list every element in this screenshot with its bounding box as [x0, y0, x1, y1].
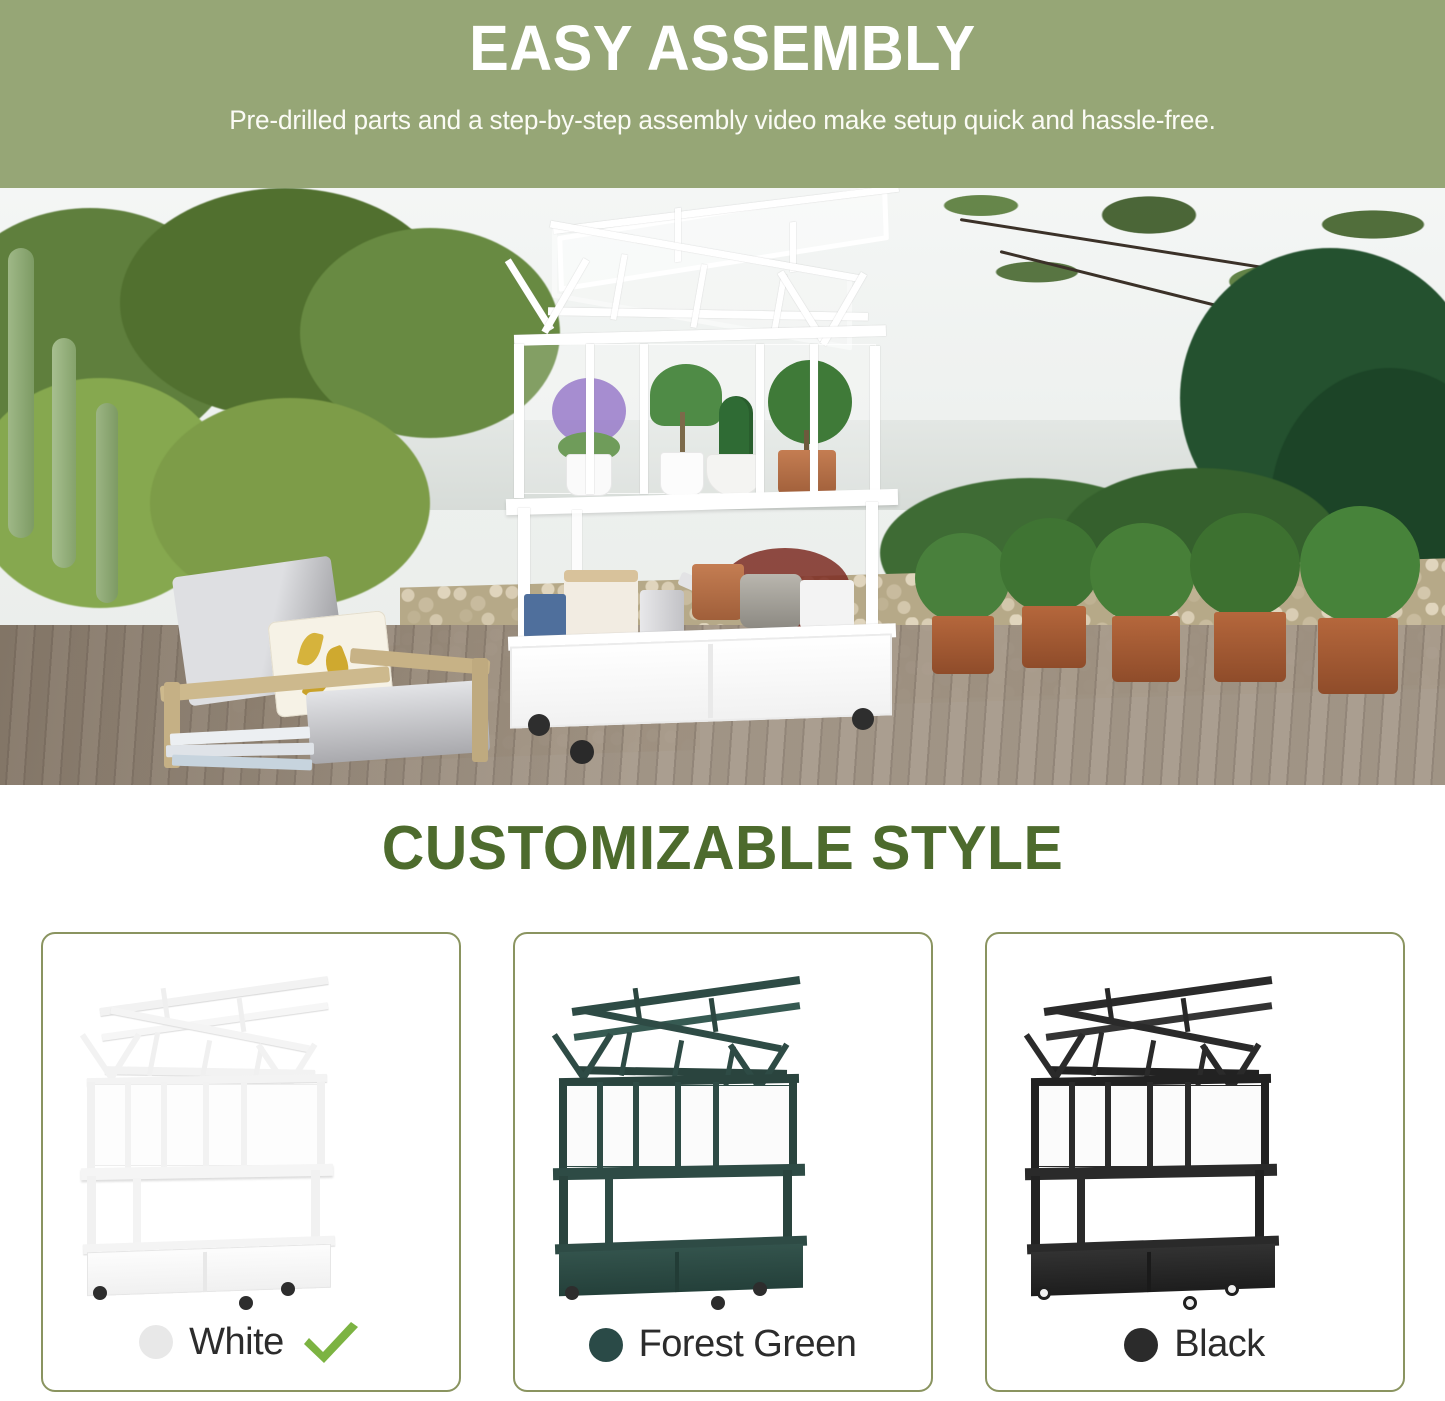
color-name-black: Black [1174, 1323, 1264, 1366]
lounge-chair [150, 558, 500, 768]
planter-box-divider [708, 644, 713, 718]
cart-leg [133, 1178, 141, 1250]
cabinet-door-stile [756, 344, 764, 494]
caster-wheel [711, 1296, 725, 1310]
potted-plant [915, 533, 1010, 623]
color-option-label-row-forest-green: Forest Green [515, 1323, 931, 1366]
caster-wheel [528, 714, 550, 736]
color-option-cards: White [0, 932, 1445, 1392]
palm-plant [650, 364, 722, 426]
color-swatch-forest-green [589, 1328, 623, 1362]
white-plant-pot [660, 452, 704, 496]
pillow-leaf-motif [297, 630, 325, 668]
cabinet-mullion [810, 344, 818, 494]
potted-plant [1090, 523, 1195, 623]
chair-leg [472, 658, 488, 762]
bucket-lid [564, 570, 638, 582]
cabinet-corner-post [1031, 1082, 1039, 1172]
potted-plant [1000, 518, 1100, 613]
banner-subtitle: Pre-drilled parts and a step-by-step ass… [229, 105, 1216, 136]
copper-planter-pot [1112, 616, 1180, 682]
caster-wheel [239, 1296, 253, 1310]
cabinet-corner-post [87, 1082, 95, 1172]
product-figure-black [987, 940, 1403, 1300]
cabinet-corner-post [789, 1082, 797, 1172]
product-figure-forest-green [515, 940, 931, 1300]
cabinet-door-stile [1147, 1082, 1153, 1170]
color-name-forest-green: Forest Green [639, 1323, 857, 1366]
caster-wheel [281, 1282, 295, 1296]
planter-box-divider [203, 1252, 207, 1292]
cabinet-door-stile [203, 1082, 209, 1170]
storage-bucket [564, 574, 638, 640]
nested-terracotta-pots [692, 564, 744, 620]
caster-wheel [753, 1282, 767, 1296]
planter-box-divider [675, 1252, 679, 1292]
cabinet-mullion [597, 1082, 603, 1170]
planter-box-divider [1147, 1252, 1151, 1292]
caster-wheel [93, 1286, 107, 1300]
gable-brace [106, 1033, 141, 1084]
banner-title: EASY ASSEMBLY [469, 14, 976, 83]
cactus [8, 248, 34, 538]
caster-wheel [570, 740, 594, 764]
cabinet-corner-post [514, 344, 524, 498]
hero-lifestyle-photo [0, 188, 1445, 785]
caster-wheel [852, 708, 874, 730]
customizable-style-section: CUSTOMIZABLE STYLE [0, 785, 1445, 1401]
caster-wheel [1183, 1296, 1197, 1310]
caster-wheel [1225, 1282, 1239, 1296]
cart-leg [1077, 1178, 1085, 1250]
product-figure-white [43, 940, 459, 1300]
color-option-card-white[interactable]: White [41, 932, 461, 1392]
color-swatch-black [1124, 1328, 1158, 1362]
cabinet-corner-post [559, 1082, 567, 1172]
color-swatch-white [139, 1325, 173, 1359]
copper-planter-pot [1022, 606, 1086, 668]
color-option-label-row-black: Black [987, 1323, 1403, 1366]
cabinet-corner-post [1261, 1082, 1269, 1172]
selected-check-icon [300, 1318, 362, 1366]
color-name-white: White [189, 1321, 284, 1364]
cabinet-door-stile [633, 1082, 639, 1170]
gable-brace [578, 1033, 613, 1084]
cabinet-mullion [125, 1082, 131, 1170]
color-option-card-forest-green[interactable]: Forest Green [513, 932, 933, 1392]
gable-brace [1050, 1033, 1085, 1084]
easy-assembly-banner: EASY ASSEMBLY Pre-drilled parts and a st… [0, 0, 1445, 188]
color-option-card-black[interactable]: Black [985, 932, 1405, 1392]
copper-planter-pot [1214, 612, 1286, 682]
middle-shelf [80, 1164, 332, 1180]
copper-planter-pot [932, 616, 994, 674]
cart-leg [605, 1178, 613, 1250]
section-title: CUSTOMIZABLE STYLE [36, 813, 1409, 884]
stone-planter [740, 574, 802, 628]
cactus [96, 403, 118, 603]
chair-seat-cushion [306, 680, 491, 764]
planter-box-front [510, 633, 892, 728]
blue-storage-item [524, 594, 566, 638]
cabinet-mullion [1069, 1082, 1075, 1170]
greenhouse-cart [500, 202, 920, 768]
cabinet-door-stile [640, 344, 648, 494]
terracotta-pot [778, 450, 836, 496]
color-option-label-row-white: White [43, 1318, 459, 1366]
cabinet-door-stile [1105, 1082, 1111, 1170]
caster-wheel [1037, 1286, 1051, 1300]
cabinet-mullion [241, 1082, 247, 1170]
cabinet-corner-post [317, 1082, 325, 1172]
cabinet-mullion [1185, 1082, 1191, 1170]
cabinet-door-stile [675, 1082, 681, 1170]
potted-plant [1190, 513, 1300, 618]
cabinet-mullion [713, 1082, 719, 1170]
caster-wheel [565, 1286, 579, 1300]
copper-planter-pot [1318, 618, 1398, 694]
potted-plant [1300, 506, 1420, 624]
cabinet-corner-post [870, 346, 880, 500]
cactus-plant [719, 396, 753, 462]
cabinet-door-stile [161, 1082, 167, 1170]
cactus [52, 338, 76, 568]
cabinet-mullion [586, 344, 594, 494]
garden-bag [800, 580, 854, 628]
